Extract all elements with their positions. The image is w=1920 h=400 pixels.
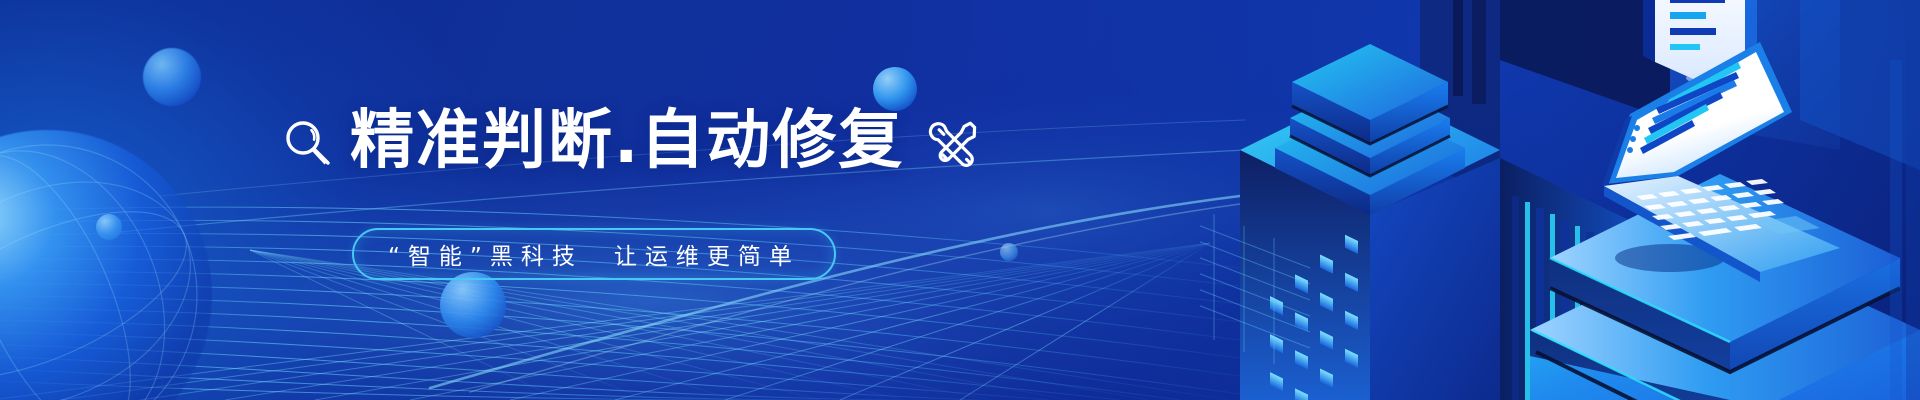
globe-rings-icon xyxy=(0,130,212,400)
title-separator: . xyxy=(614,104,640,178)
subtitle-pill: “智能”黑科技 让运维更简单 xyxy=(352,228,836,280)
title-part-1: 精准判断 xyxy=(350,104,614,178)
isometric-illustration xyxy=(1200,0,1920,400)
magnifier-icon xyxy=(282,117,334,169)
headline-group: 精准判断.自动修复 xyxy=(282,108,984,174)
subtitle-text: “智能”黑科技 让运维更简单 xyxy=(388,237,800,271)
title-part-2: 自动修复 xyxy=(640,104,904,178)
page-title: 精准判断.自动修复 xyxy=(350,109,904,173)
wrench-screwdriver-icon xyxy=(928,118,984,174)
tech-banner: 精准判断.自动修复 “智能”黑科技 让运维更简单 xyxy=(0,0,1920,400)
